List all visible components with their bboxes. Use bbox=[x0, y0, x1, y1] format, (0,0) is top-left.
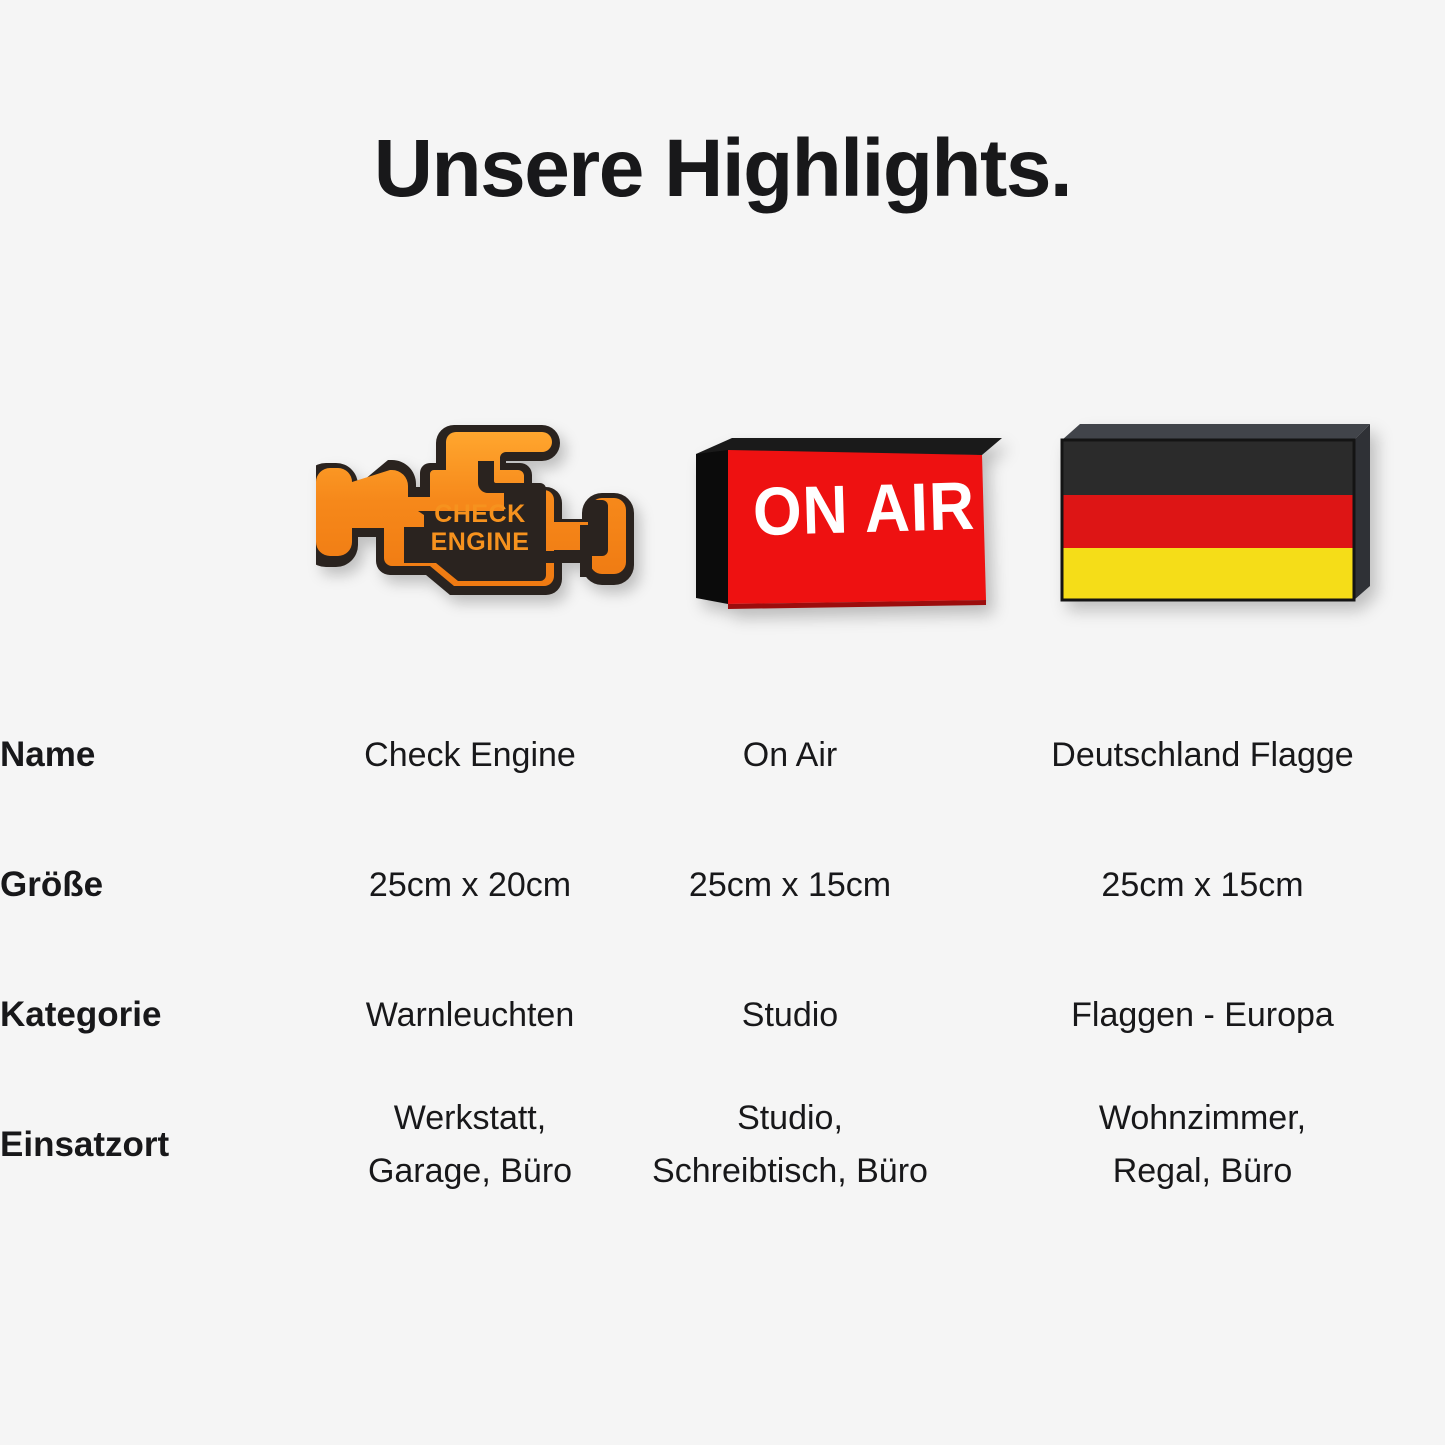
cell-line-1: Wohnzimmer, bbox=[960, 1092, 1445, 1145]
cell-line-2: Schreibtisch, Büro bbox=[620, 1145, 960, 1198]
product-image-deutschland-flagge[interactable] bbox=[1020, 408, 1410, 658]
cell-einsatzort-on-air: Studio, Schreibtisch, Büro bbox=[620, 1080, 960, 1210]
cell-line-2: Garage, Büro bbox=[320, 1145, 620, 1198]
cell-kategorie-deutschland-flagge: Flaggen - Europa bbox=[960, 950, 1445, 1080]
product-image-on-air[interactable]: ON AIR bbox=[668, 408, 1014, 658]
cell-einsatzort-check-engine: Werkstatt, Garage, Büro bbox=[320, 1080, 620, 1210]
product-image-check-engine[interactable]: CHECK ENGINE bbox=[296, 408, 670, 658]
spec-table: Name Check Engine On Air Deutschland Fla… bbox=[0, 690, 1445, 1210]
cell-groesse-on-air: 25cm x 15cm bbox=[620, 820, 960, 950]
table-row: Name Check Engine On Air Deutschland Fla… bbox=[0, 690, 1445, 820]
table-row: Größe 25cm x 20cm 25cm x 15cm 25cm x 15c… bbox=[0, 820, 1445, 950]
product-image-row: CHECK ENGINE ON AIR bbox=[0, 408, 1445, 658]
cell-line-1: Werkstatt, bbox=[320, 1092, 620, 1145]
cell-line-1: Studio, bbox=[620, 1092, 960, 1145]
row-label-groesse: Größe bbox=[0, 820, 320, 950]
cell-groesse-deutschland-flagge: 25cm x 15cm bbox=[960, 820, 1445, 950]
table-row: Einsatzort Werkstatt, Garage, Büro Studi… bbox=[0, 1080, 1445, 1210]
on-air-light-box-icon: ON AIR bbox=[686, 428, 1002, 618]
cell-name-deutschland-flagge: Deutschland Flagge bbox=[960, 690, 1445, 820]
cell-name-check-engine: Check Engine bbox=[320, 690, 620, 820]
germany-flag-light-box-icon bbox=[1058, 418, 1370, 618]
row-label-einsatzort: Einsatzort bbox=[0, 1080, 320, 1210]
cell-kategorie-on-air: Studio bbox=[620, 950, 960, 1080]
cell-name-on-air: On Air bbox=[620, 690, 960, 820]
row-label-kategorie: Kategorie bbox=[0, 950, 320, 1080]
page-title: Unsere Highlights. bbox=[0, 128, 1445, 210]
cell-groesse-check-engine: 25cm x 20cm bbox=[320, 820, 620, 950]
cell-einsatzort-deutschland-flagge: Wohnzimmer, Regal, Büro bbox=[960, 1080, 1445, 1210]
table-row: Kategorie Warnleuchten Studio Flaggen - … bbox=[0, 950, 1445, 1080]
row-label-name: Name bbox=[0, 690, 320, 820]
cell-line-2: Regal, Büro bbox=[960, 1145, 1445, 1198]
check-engine-lamp-icon: CHECK ENGINE bbox=[316, 416, 638, 638]
highlights-page: Unsere Highlights. bbox=[0, 0, 1445, 1445]
cell-kategorie-check-engine: Warnleuchten bbox=[320, 950, 620, 1080]
